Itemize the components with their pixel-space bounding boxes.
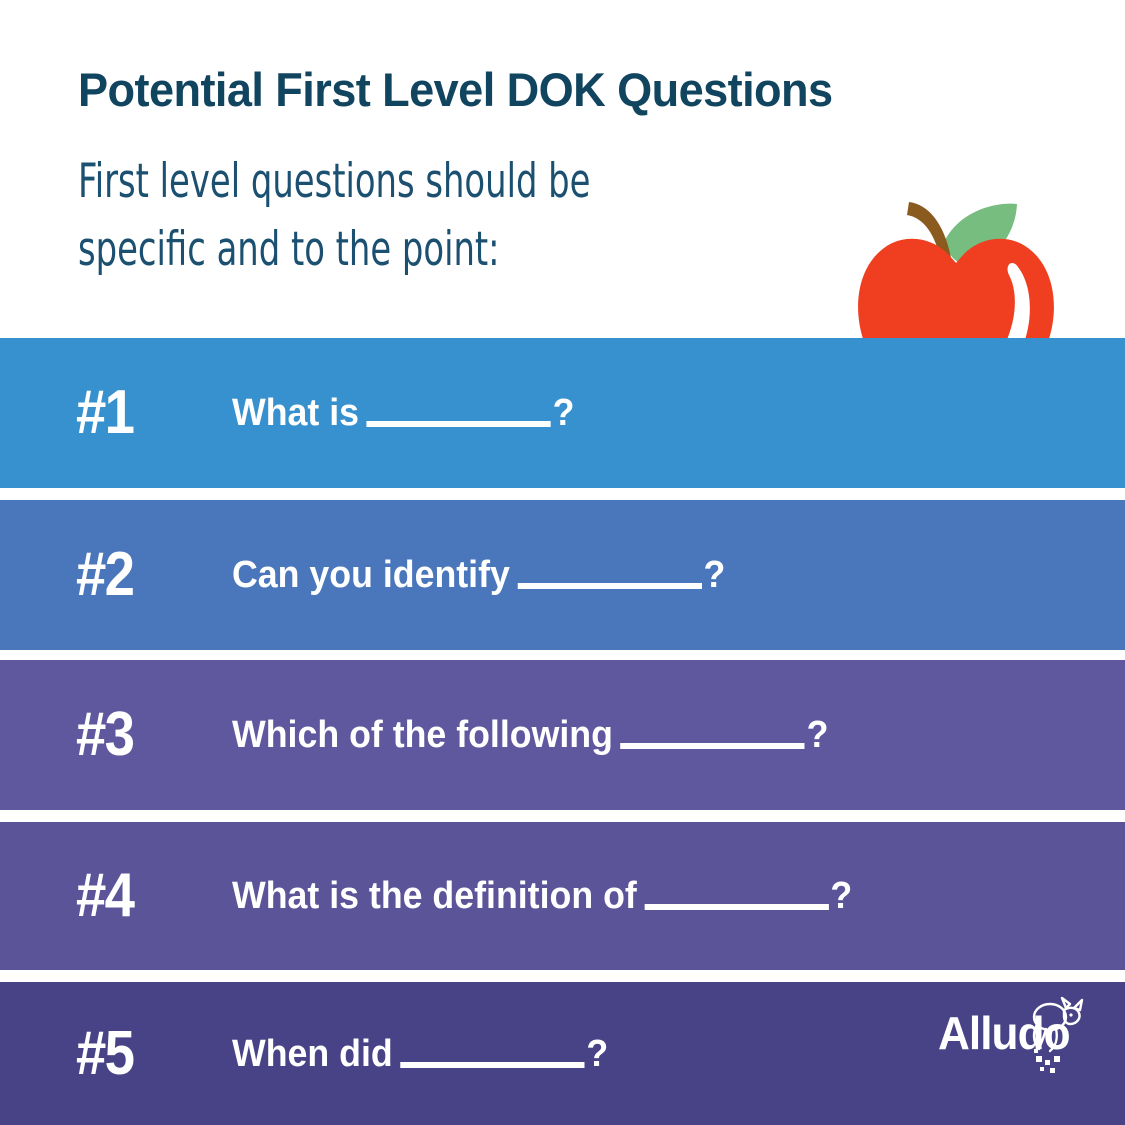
infographic-poster: Potential First Level DOK Questions Firs… xyxy=(0,0,1125,1125)
alludo-logo[interactable]: Alludo xyxy=(938,1010,1075,1064)
alludo-creature-icon xyxy=(1016,986,1086,1078)
question-blank-4 xyxy=(644,878,828,910)
question-text-2: Can you identify? xyxy=(232,556,725,594)
question-number-5: #5 xyxy=(76,1023,133,1085)
question-prefix-5: When did xyxy=(232,1033,393,1075)
question-suffix-1: ? xyxy=(553,392,575,434)
question-text-5: When did? xyxy=(232,1035,608,1073)
question-prefix-4: What is the definition of xyxy=(232,875,637,917)
page-subtitle: First level questions should be specific… xyxy=(78,148,734,284)
question-number-2: #2 xyxy=(76,544,133,606)
question-suffix-3: ? xyxy=(807,714,829,756)
header-section: Potential First Level DOK Questions Firs… xyxy=(0,0,1125,338)
question-text-3: Which of the following? xyxy=(232,716,828,754)
question-blank-1 xyxy=(367,395,551,427)
question-blank-5 xyxy=(400,1036,584,1068)
question-prefix-1: What is xyxy=(232,392,359,434)
question-number-3: #3 xyxy=(76,704,133,766)
question-suffix-5: ? xyxy=(586,1033,608,1075)
page-title: Potential First Level DOK Questions xyxy=(78,62,833,117)
question-suffix-4: ? xyxy=(830,875,852,917)
question-blank-2 xyxy=(517,557,701,589)
question-text-1: What is? xyxy=(232,394,574,432)
question-prefix-2: Can you identify xyxy=(232,554,510,596)
question-number-4: #4 xyxy=(76,865,133,927)
question-blank-3 xyxy=(620,717,804,749)
question-row-3[interactable]: #3 Which of the following? xyxy=(0,660,1125,810)
question-number-1: #1 xyxy=(76,382,133,444)
question-row-4[interactable]: #4 What is the definition of? xyxy=(0,822,1125,970)
question-suffix-2: ? xyxy=(703,554,725,596)
question-prefix-3: Which of the following xyxy=(232,714,613,756)
question-row-1[interactable]: #1 What is? xyxy=(0,338,1125,488)
question-text-4: What is the definition of? xyxy=(232,877,852,915)
question-row-2[interactable]: #2 Can you identify? xyxy=(0,500,1125,650)
